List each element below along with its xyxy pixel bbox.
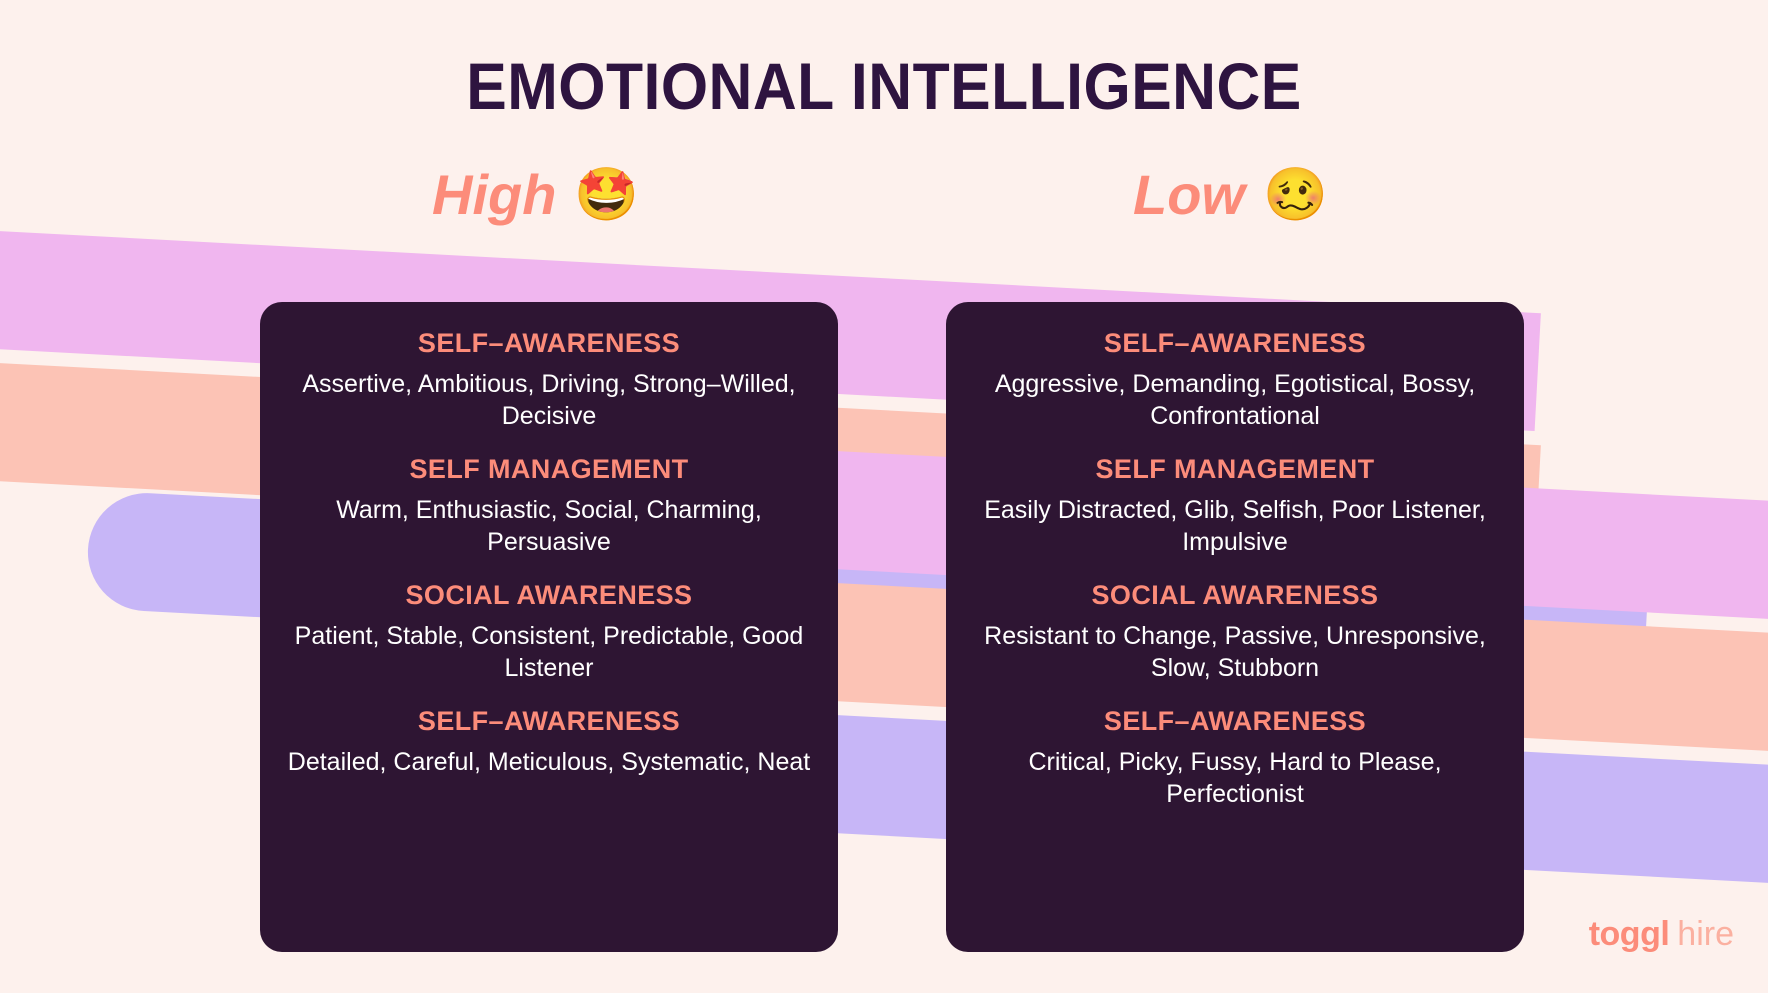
section-low-2: SELF MANAGEMENT Easily Distracted, Glib,…	[946, 454, 1524, 558]
section-title: SELF MANAGEMENT	[286, 454, 812, 485]
section-title: SELF–AWARENESS	[286, 328, 812, 359]
section-body: Easily Distracted, Glib, Selfish, Poor L…	[972, 494, 1498, 558]
section-high-3: SOCIAL AWARENESS Patient, Stable, Consis…	[260, 580, 838, 684]
column-header-low: Low 🥴	[1133, 162, 1328, 227]
section-high-1: SELF–AWARENESS Assertive, Ambitious, Dri…	[260, 328, 838, 432]
card-low-emotional-intelligence: SELF–AWARENESS Aggressive, Demanding, Eg…	[946, 302, 1524, 952]
section-body: Warm, Enthusiastic, Social, Charming, Pe…	[286, 494, 812, 558]
logo-primary-text: toggl	[1589, 915, 1670, 953]
infographic-canvas: EMOTIONAL INTELLIGENCE High 🤩 Low 🥴 SELF…	[0, 0, 1768, 993]
star-struck-face-emoji: 🤩	[574, 169, 639, 221]
column-header-low-label: Low	[1133, 162, 1245, 227]
section-title: SELF–AWARENESS	[972, 706, 1498, 737]
page-title: EMOTIONAL INTELLIGENCE	[71, 48, 1698, 124]
section-high-4: SELF–AWARENESS Detailed, Careful, Meticu…	[260, 706, 838, 778]
bottom-edge-mask	[0, 963, 1768, 993]
section-title: SOCIAL AWARENESS	[286, 580, 812, 611]
woozy-face-emoji: 🥴	[1263, 169, 1328, 221]
section-title: SELF MANAGEMENT	[972, 454, 1498, 485]
section-body: Detailed, Careful, Meticulous, Systemati…	[286, 746, 812, 778]
section-title: SELF–AWARENESS	[286, 706, 812, 737]
section-body: Aggressive, Demanding, Egotistical, Boss…	[972, 368, 1498, 432]
section-body: Patient, Stable, Consistent, Predictable…	[286, 620, 812, 684]
toggl-hire-logo: togglhire	[1589, 917, 1734, 951]
column-header-high-label: High	[432, 162, 556, 227]
column-header-high: High 🤩	[432, 162, 639, 227]
section-high-2: SELF MANAGEMENT Warm, Enthusiastic, Soci…	[260, 454, 838, 558]
section-low-1: SELF–AWARENESS Aggressive, Demanding, Eg…	[946, 328, 1524, 432]
section-low-4: SELF–AWARENESS Critical, Picky, Fussy, H…	[946, 706, 1524, 810]
section-title: SOCIAL AWARENESS	[972, 580, 1498, 611]
section-title: SELF–AWARENESS	[972, 328, 1498, 359]
section-body: Resistant to Change, Passive, Unresponsi…	[972, 620, 1498, 684]
section-body: Critical, Picky, Fussy, Hard to Please, …	[972, 746, 1498, 810]
card-high-emotional-intelligence: SELF–AWARENESS Assertive, Ambitious, Dri…	[260, 302, 838, 952]
section-low-3: SOCIAL AWARENESS Resistant to Change, Pa…	[946, 580, 1524, 684]
section-body: Assertive, Ambitious, Driving, Strong–Wi…	[286, 368, 812, 432]
logo-secondary-text: hire	[1677, 915, 1734, 953]
